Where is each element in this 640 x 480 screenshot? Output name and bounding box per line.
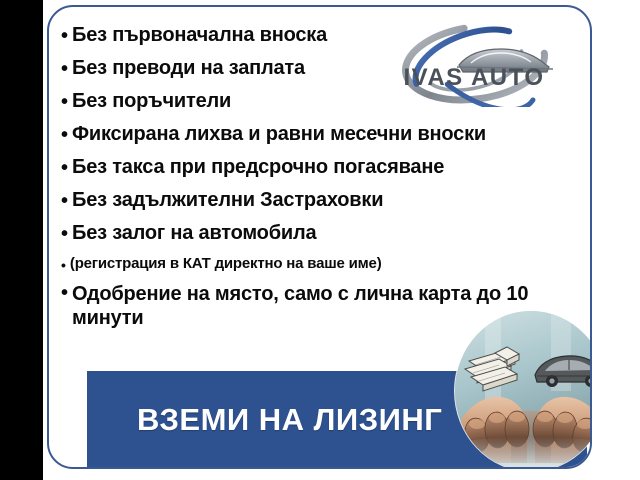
bullet-dot-icon: • <box>61 92 68 112</box>
bullet-dot-icon: • <box>61 191 68 211</box>
list-item: • Фиксирана лихва и равни месечни вноски <box>61 124 591 144</box>
feature-bullet-list: • Без първоначална вноска • Без преводи … <box>61 25 591 343</box>
list-item: • Без първоначална вноска <box>61 25 591 45</box>
bullet-dot-icon: • <box>61 158 68 178</box>
hands-holding-money-and-car-photo <box>455 311 592 469</box>
list-item: • Без поръчители <box>61 91 591 111</box>
list-item: • Без залог на автомобила <box>61 223 591 243</box>
list-item: • Без преводи на заплата <box>61 58 591 78</box>
bullet-dot-icon: • <box>61 258 66 272</box>
bullet-dot-icon: • <box>61 59 68 79</box>
list-item-label: Без залог на автомобила <box>72 223 316 243</box>
list-item-label: Без първоначална вноска <box>72 25 327 45</box>
bullet-dot-icon: • <box>61 125 68 145</box>
ad-frame: IVAS AUTO • Без първоначална вноска • Бе… <box>47 5 592 469</box>
bullet-dot-icon: • <box>61 224 68 244</box>
letterbox-bar-left <box>0 0 43 480</box>
list-item: • Без такса при предсрочно погасяване <box>61 157 591 177</box>
list-item-note: • (регистрация в КАТ директно на ваше им… <box>61 256 591 271</box>
list-item-label: Без поръчители <box>72 91 231 111</box>
list-item: • Без задължителни Застраховки <box>61 190 591 210</box>
cta-label: ВЗЕМИ НА ЛИЗИНГ <box>137 402 442 438</box>
list-item-label: Без такса при предсрочно погасяване <box>72 157 444 177</box>
list-item-label: Без преводи на заплата <box>72 58 305 78</box>
list-item-label: Без задължителни Застраховки <box>72 190 383 210</box>
list-item-label: (регистрация в КАТ директно на ваше име) <box>70 256 382 271</box>
leasing-advertisement: IVAS AUTO • Без първоначална вноска • Бе… <box>0 0 640 480</box>
bullet-dot-icon: • <box>61 283 68 303</box>
list-item-label: Фиксирана лихва и равни месечни вноски <box>72 124 486 144</box>
bullet-dot-icon: • <box>61 26 68 46</box>
